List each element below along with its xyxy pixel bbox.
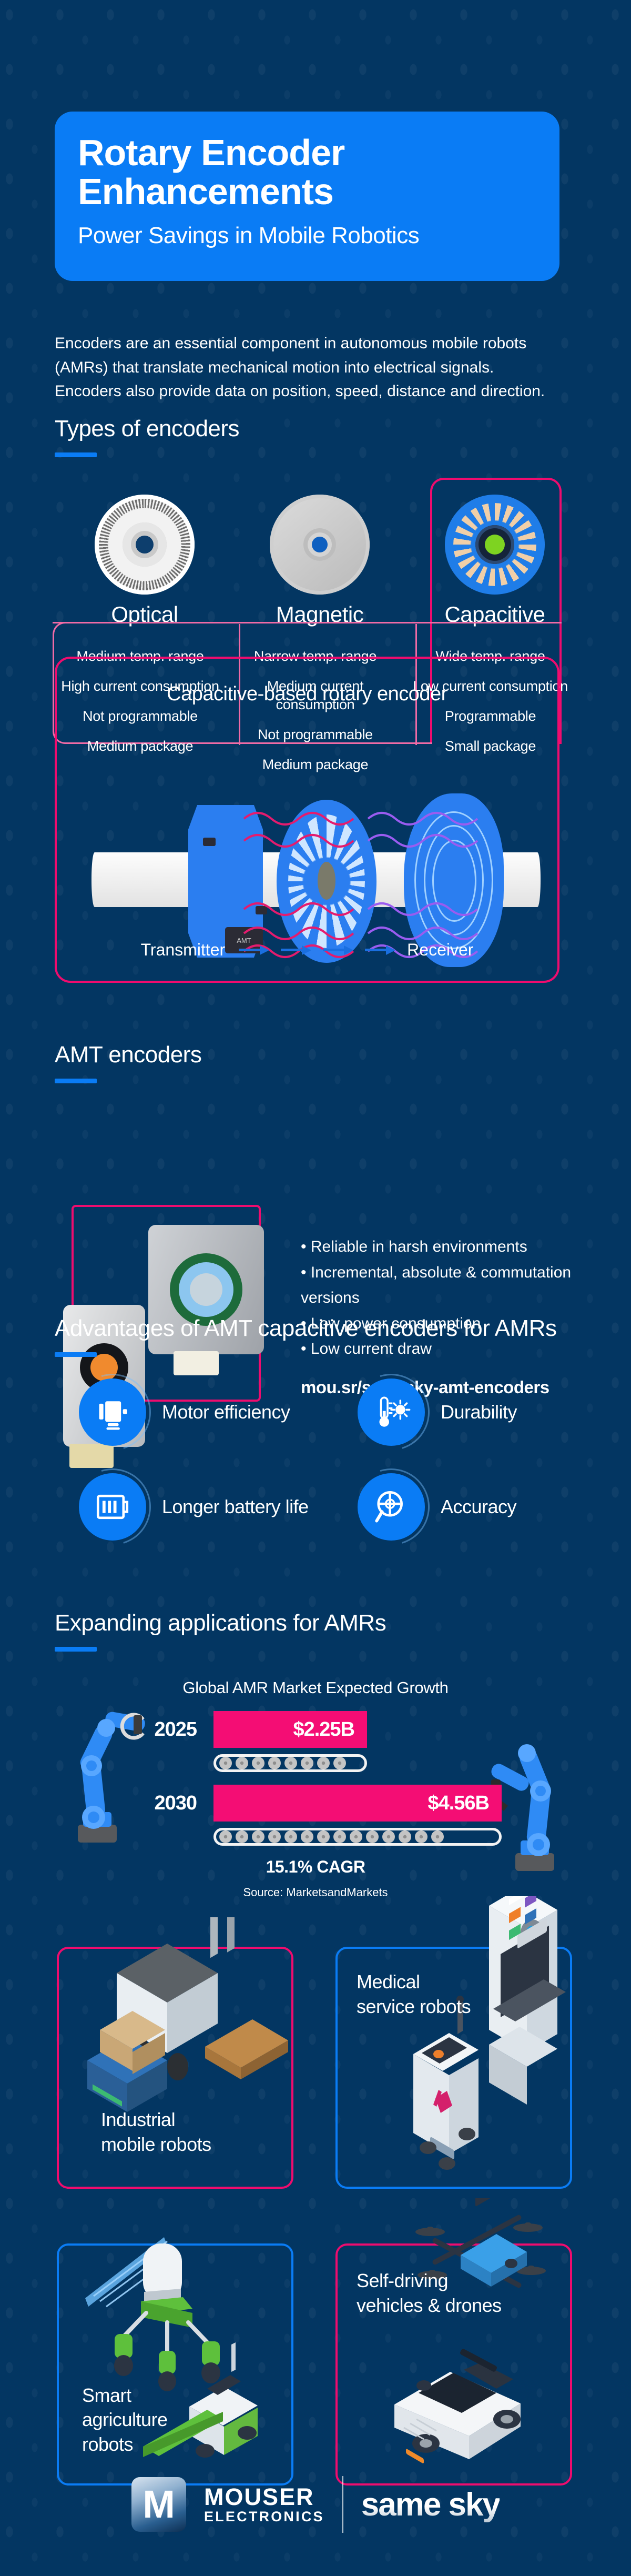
heading-rule [55,1647,97,1652]
section-heading-advantages: Advantages of AMT capacitive encoders fo… [55,1315,556,1357]
advantage-accuracy: Accuracy [358,1473,516,1541]
belt-roller [333,1830,346,1843]
advantage-durability: Durability [358,1378,517,1446]
bar-2030: $4.56B [213,1785,502,1822]
section-heading-advantages-label: Advantages of AMT capacitive encoders fo… [55,1315,556,1341]
belt-roller [236,1757,248,1769]
advantage-label: Durability [441,1401,517,1423]
belt-roller [219,1830,232,1843]
capacitive-disc-icon [445,495,545,595]
encoder-column-optical: Optical [58,495,231,627]
medical-robot-illustration [401,1896,574,2170]
footer-logos: M MOUSER ELECTRONICS same sky [0,2476,631,2533]
belt-roller [252,1757,264,1769]
app-card-selfdriving: Self-driving vehicles & drones [335,2243,572,2486]
belt-roller [382,1830,395,1843]
flow-arrow-icon [323,949,351,951]
app-card-agriculture: Smart agriculture robots [57,2243,293,2486]
section-heading-applications-label: Expanding applications for AMRs [55,1610,386,1636]
bar-year-label: 2025 [141,1718,197,1741]
belt-roller [284,1830,297,1843]
section-heading-types: Types of encoders [55,416,239,457]
belt-roller [236,1830,248,1843]
mouser-line1: MOUSER [204,2485,324,2510]
belt-roller [333,1757,346,1769]
app-card-selfdriving-label: Self-driving vehicles & drones [357,2269,502,2318]
bar-value-label: $2.25B [293,1718,354,1741]
heading-rule [55,1352,97,1357]
advantage-label: Motor efficiency [162,1401,290,1423]
diagram-title: Capacitive-based rotary encoder [57,683,557,706]
heading-rule [55,452,97,457]
receiver-label: Receiver [407,940,473,960]
section-heading-types-label: Types of encoders [55,416,239,441]
capacitive-encoder-diagram-panel: Capacitive-based rotary encoder AMT [55,657,559,983]
smd-chip-icon [203,838,216,846]
belt-roller [301,1830,313,1843]
amt-bullet: • Reliable in harsh environments [301,1234,574,1260]
belt-roller [317,1757,330,1769]
section-heading-applications: Expanding applications for AMRs [55,1610,386,1652]
advantage-label: Accuracy [441,1496,516,1518]
encoder-column-magnetic: Magnetic [233,495,406,627]
conveyor-belt-2030 [213,1828,502,1846]
chart-bar-row-2025: 2025 $2.25B [141,1711,367,1748]
hero-banner: Rotary Encoder Enhancements Power Saving… [55,112,559,281]
belt-roller [301,1757,313,1769]
self-driving-car-illustration [355,2319,582,2482]
heading-rule [55,1079,97,1083]
app-card-medical: Medical service robots [335,1947,572,2189]
app-card-agriculture-label: Smart agriculture robots [82,2383,168,2457]
app-card-industrial-label: Industrial mobile robots [101,2108,211,2157]
mouser-wordmark: MOUSER ELECTRONICS [204,2485,324,2524]
belt-roller [268,1830,281,1843]
belt-roller [268,1757,281,1769]
belt-roller [317,1830,330,1843]
chart-bar-row-2030: 2030 $4.56B [141,1785,502,1822]
belt-roller [284,1757,297,1769]
amt-bullet: • Incremental, absolute & commutation ve… [301,1260,574,1311]
footer-divider [342,2476,343,2533]
amt-large-center [190,1273,222,1306]
page-subtitle: Power Savings in Mobile Robotics [78,223,536,249]
advantage-battery-life: Longer battery life [79,1473,309,1541]
transmitter-label: Transmitter [141,940,226,960]
magnifier-crosshair-icon [358,1473,425,1541]
section-heading-amt: AMT encoders [55,1042,201,1083]
belt-roller [415,1830,428,1843]
bar-year-label: 2030 [141,1792,197,1815]
battery-icon [79,1473,146,1541]
belt-roller [366,1830,379,1843]
bar-value-label: $4.56B [428,1792,489,1815]
chart-title: Global AMR Market Expected Growth [0,1678,631,1697]
robot-arm-left-icon [50,1699,150,1852]
mouser-logo-mark: M [131,2477,186,2532]
flow-arrow-icon [239,949,267,951]
forklift-illustration [69,1917,296,2122]
section-heading-amt-label: AMT encoders [55,1042,201,1068]
motor-icon [79,1378,146,1446]
belt-roller [252,1830,264,1843]
thermometer-sun-icon [358,1378,425,1446]
chart-cagr-annotation: 15.1% CAGR [0,1857,631,1877]
optical-disc-icon [95,495,195,595]
flow-arrow-icon [365,949,393,951]
intro-paragraph: Encoders are an essential component in a… [55,331,549,404]
flow-arrow-icon [281,949,309,951]
conveyor-belt-2025 [213,1754,367,1772]
advantage-motor-efficiency: Motor efficiency [79,1378,290,1446]
encoder-column-capacitive: Capacitive [408,495,582,627]
magnetic-disc-icon [270,495,370,595]
belt-roller [431,1830,444,1843]
mouser-line2: ELECTRONICS [204,2509,324,2524]
page-title: Rotary Encoder Enhancements [78,134,536,211]
belt-roller [399,1830,411,1843]
diagram-flow-legend: Transmitter Receiver [57,940,557,960]
app-card-medical-label: Medical service robots [357,1970,471,2019]
samesky-logo: same sky [361,2486,500,2523]
advantage-label: Longer battery life [162,1496,309,1518]
belt-roller [219,1757,232,1769]
belt-roller [350,1830,362,1843]
bar-2025: $2.25B [213,1711,367,1748]
app-card-industrial: Industrial mobile robots [57,1947,293,2189]
